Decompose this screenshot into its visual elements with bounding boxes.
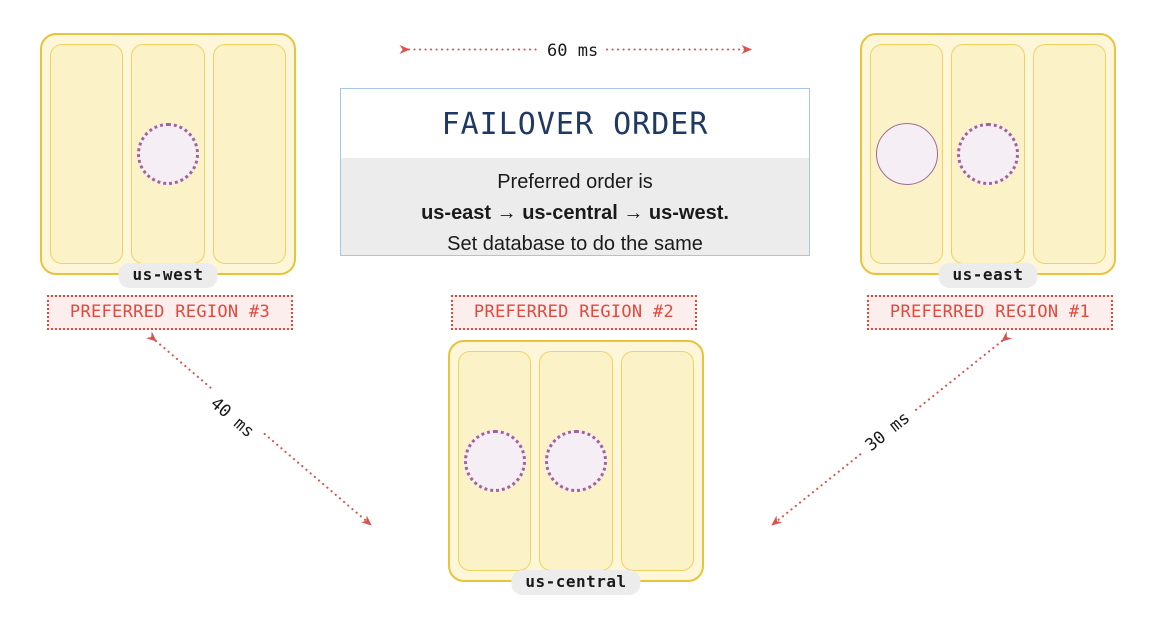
zone-list-us-east bbox=[860, 33, 1116, 275]
replica-node-us-east-2[interactable] bbox=[957, 123, 1019, 185]
zone-us-west-2[interactable] bbox=[131, 44, 204, 264]
zone-us-east-3[interactable] bbox=[1033, 44, 1106, 264]
preferred-region-badge-us-central: PREFERRED REGION #2 bbox=[451, 295, 697, 330]
zone-us-central-2[interactable] bbox=[539, 351, 612, 571]
zone-us-west-3[interactable] bbox=[213, 44, 286, 264]
diagram-canvas: us-west PREFERRED REGION #3 PREFERRED RE… bbox=[0, 0, 1157, 622]
region-us-central[interactable] bbox=[448, 340, 704, 582]
callout-line-1: Preferred order is bbox=[351, 167, 799, 198]
preferred-region-badge-us-west: PREFERRED REGION #3 bbox=[47, 295, 293, 330]
region-label-us-central: us-central bbox=[511, 570, 640, 595]
zone-us-west-1[interactable] bbox=[50, 44, 123, 264]
zone-us-central-3[interactable] bbox=[621, 351, 694, 571]
zone-list-us-central bbox=[448, 340, 704, 582]
zone-list-us-west bbox=[40, 33, 296, 275]
region-us-west[interactable] bbox=[40, 33, 296, 275]
callout-line-2: us-east → us-central → us-west. bbox=[351, 198, 799, 229]
preferred-region-badge-us-east: PREFERRED REGION #1 bbox=[867, 295, 1113, 330]
failover-order-callout: FAILOVER ORDER Preferred order is us-eas… bbox=[340, 88, 810, 256]
zone-us-east-2[interactable] bbox=[951, 44, 1024, 264]
region-us-east[interactable] bbox=[860, 33, 1116, 275]
latency-line-west-central bbox=[156, 341, 371, 525]
callout-line-3: Set database to do the same bbox=[351, 229, 799, 256]
latency-label-east-central: 30 ms bbox=[856, 404, 920, 461]
region-label-us-west: us-west bbox=[119, 263, 218, 288]
zone-us-east-1[interactable] bbox=[870, 44, 943, 264]
latency-label-west-central: 40 ms bbox=[201, 389, 264, 447]
replica-node-us-central-1[interactable] bbox=[464, 430, 526, 492]
callout-body: Preferred order is us-east → us-central … bbox=[341, 158, 809, 256]
region-label-us-east: us-east bbox=[939, 263, 1038, 288]
latency-label-west-east: 60 ms bbox=[540, 41, 605, 61]
replica-node-us-west-2[interactable] bbox=[137, 123, 199, 185]
zone-us-central-1[interactable] bbox=[458, 351, 531, 571]
callout-title: FAILOVER ORDER bbox=[341, 89, 809, 158]
replica-node-us-central-2[interactable] bbox=[545, 430, 607, 492]
primary-node-us-east-1[interactable] bbox=[876, 123, 938, 185]
